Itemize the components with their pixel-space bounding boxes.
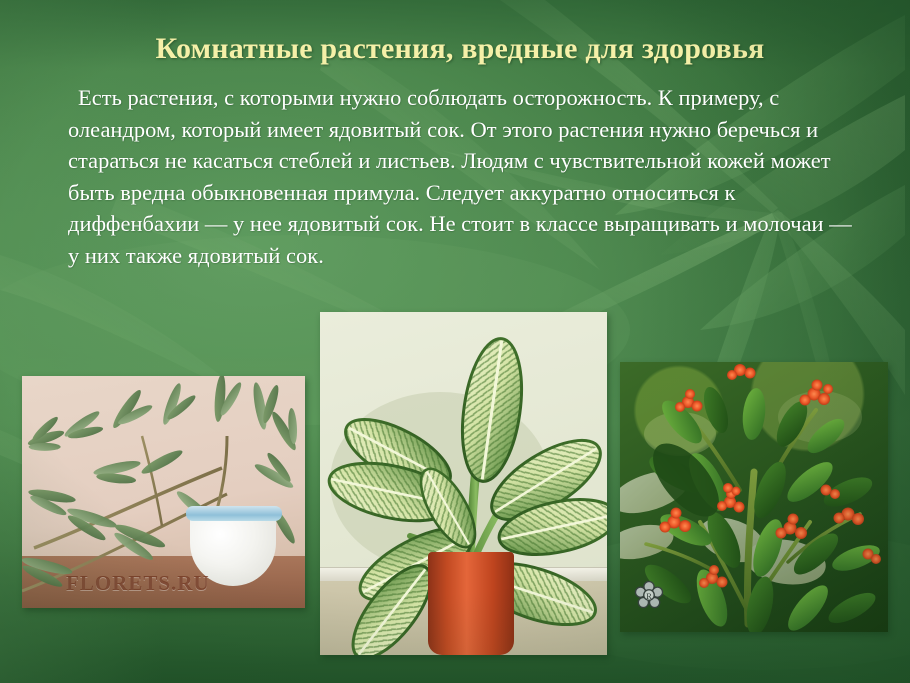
photo-dieffenbachia xyxy=(320,312,607,655)
photo-oleander: FLORETS.RU xyxy=(22,376,305,608)
svg-text:R: R xyxy=(646,591,652,601)
dieffenbachia-pot xyxy=(428,552,514,655)
oleander-watermark: FLORETS.RU xyxy=(66,571,210,596)
euphorbia-flower-logo-icon: R xyxy=(634,580,664,610)
oleander-pot-rim xyxy=(186,506,282,521)
slide-body: Есть растения, с которыми нужно соблюдат… xyxy=(68,82,858,271)
slide-title: Комнатные растения, вредные для здоровья xyxy=(60,32,860,66)
body-paragraph: Есть растения, с которыми нужно соблюдат… xyxy=(68,82,858,271)
slide-canvas: Комнатные растения, вредные для здоровья… xyxy=(0,0,910,683)
photo-euphorbia: R xyxy=(620,362,888,632)
